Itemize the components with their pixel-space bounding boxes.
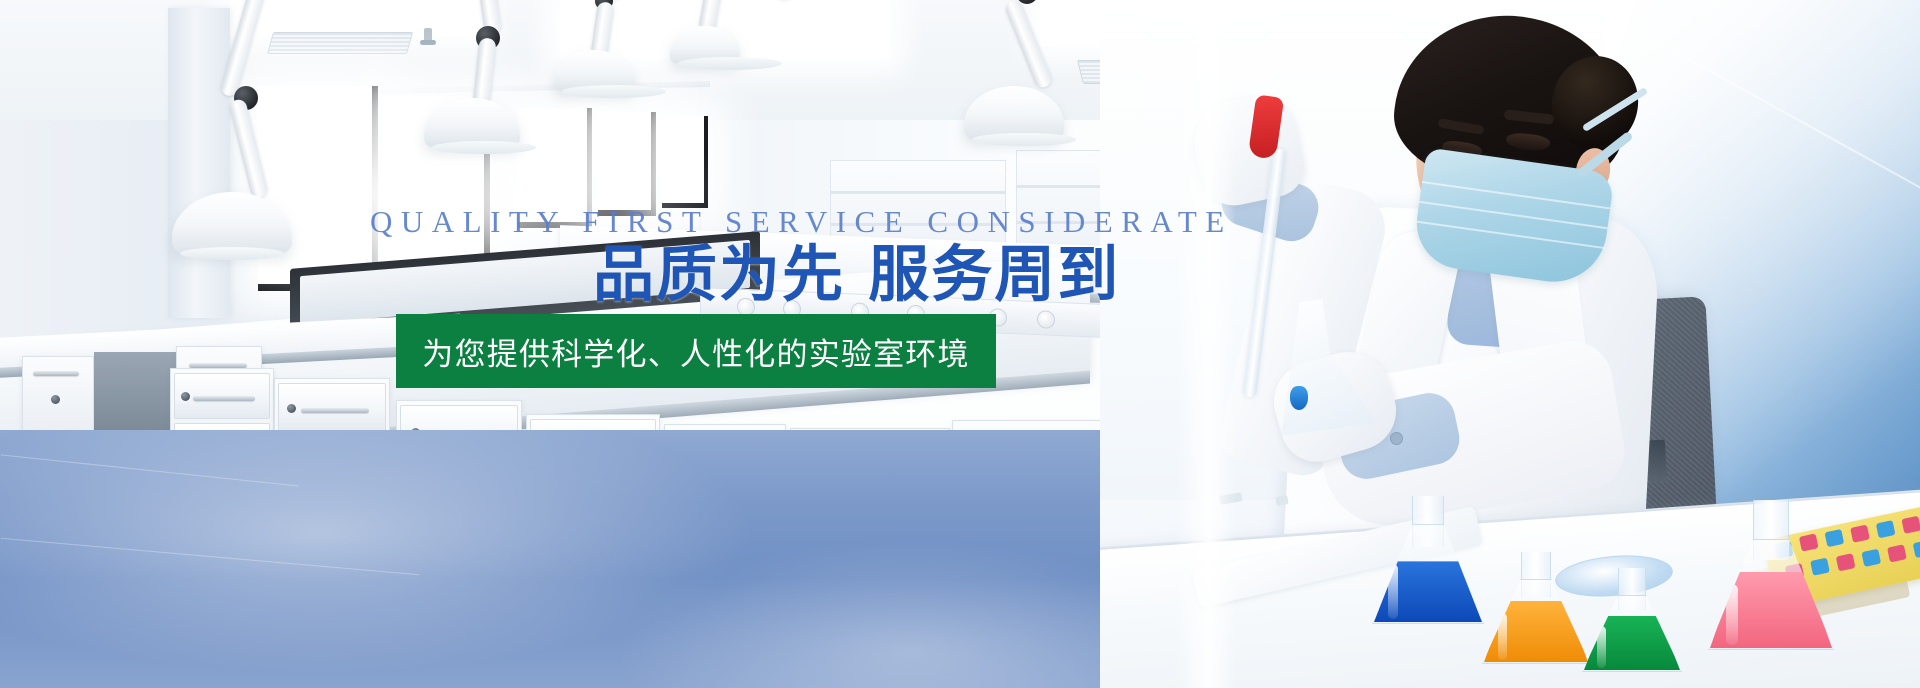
pipette-tip [1913, 540, 1920, 558]
window [258, 86, 378, 291]
storage-drawer[interactable] [278, 383, 386, 433]
technician-photo [1100, 0, 1920, 688]
pipette-tip [1861, 549, 1881, 567]
structural-column [168, 8, 230, 318]
chair-adjuster [1647, 440, 1667, 483]
window [662, 116, 708, 208]
window [598, 112, 656, 216]
fire-sprinkler [424, 28, 432, 42]
promotional-banner: QUALITY FIRST SERVICE CONSIDERATE 品质为先 服… [0, 0, 1920, 688]
blue-liquid-drop [1290, 386, 1308, 410]
pipette-tip [1901, 516, 1920, 534]
storage-drawer[interactable] [174, 373, 270, 419]
pipette-tip [1836, 553, 1856, 571]
erlenmeyer-flask-orange [1482, 552, 1590, 664]
pipette-tip [1876, 520, 1896, 538]
pipette-tip [1887, 544, 1907, 562]
ceiling-air-vent [267, 32, 413, 54]
erlenmeyer-flask-blue [1372, 496, 1484, 624]
ceiling-light-panel [230, 0, 480, 36]
window [518, 108, 592, 228]
erlenmeyer-flask-pink [1708, 500, 1834, 650]
erlenmeyer-flask-green [1582, 568, 1682, 672]
cuff-button [1390, 432, 1403, 445]
laboratory-room-photo [0, 0, 1230, 688]
floor-reflection [0, 430, 1230, 688]
pipette-tip [1850, 525, 1870, 543]
